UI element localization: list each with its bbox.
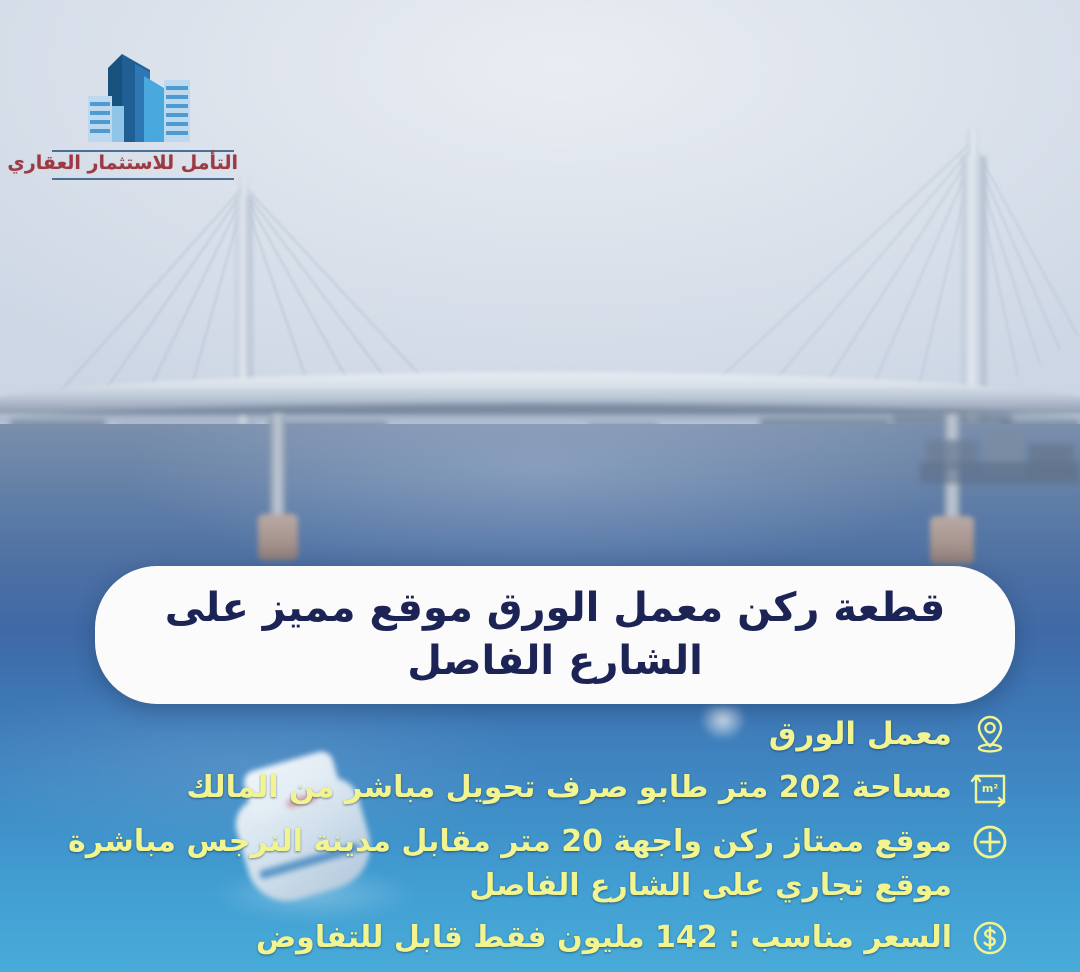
logo-rule-bottom bbox=[52, 178, 234, 180]
detail-row-location: معمل الورق bbox=[40, 710, 1014, 758]
plus-circle-icon bbox=[966, 818, 1014, 866]
dollar-circle-icon bbox=[966, 914, 1014, 962]
property-details-list: معمل الورق m² مساحة 202 متر طابو صرف تحو… bbox=[0, 710, 1080, 968]
area-square-meter-icon: m² bbox=[966, 764, 1014, 812]
detail-row-area: m² مساحة 202 متر طابو صرف تحويل مباشر من… bbox=[40, 764, 1014, 812]
detail-row-features: موقع ممتاز ركن واجهة 20 متر مقابل مدينة … bbox=[40, 818, 1014, 908]
detail-text-location: معمل الورق bbox=[40, 710, 952, 757]
location-pin-icon bbox=[966, 710, 1014, 758]
buildings-skyline-icon bbox=[78, 46, 206, 154]
real-estate-ad-poster: التأمل للاستثمار العقاري قطعة ركن معمل ا… bbox=[0, 0, 1080, 972]
right-shoreline-structures bbox=[920, 400, 1080, 510]
company-logo: التأمل للاستثمار العقاري bbox=[48, 46, 238, 196]
svg-text:m²: m² bbox=[982, 782, 998, 795]
detail-text-features: موقع ممتاز ركن واجهة 20 متر مقابل مدينة … bbox=[40, 818, 952, 908]
page-title: قطعة ركن معمل الورق موقع مميز على الشارع… bbox=[139, 582, 971, 688]
logo-company-name: التأمل للاستثمار العقاري bbox=[48, 154, 238, 173]
detail-text-area: مساحة 202 متر طابو صرف تحويل مباشر من ال… bbox=[40, 764, 952, 810]
detail-text-price: السعر مناسب : 142 مليون فقط قابل للتفاوض bbox=[40, 914, 952, 960]
bridge-pier-left bbox=[258, 414, 298, 560]
detail-row-price: السعر مناسب : 142 مليون فقط قابل للتفاوض bbox=[40, 914, 1014, 962]
headline-card: قطعة ركن معمل الورق موقع مميز على الشارع… bbox=[95, 566, 1015, 704]
